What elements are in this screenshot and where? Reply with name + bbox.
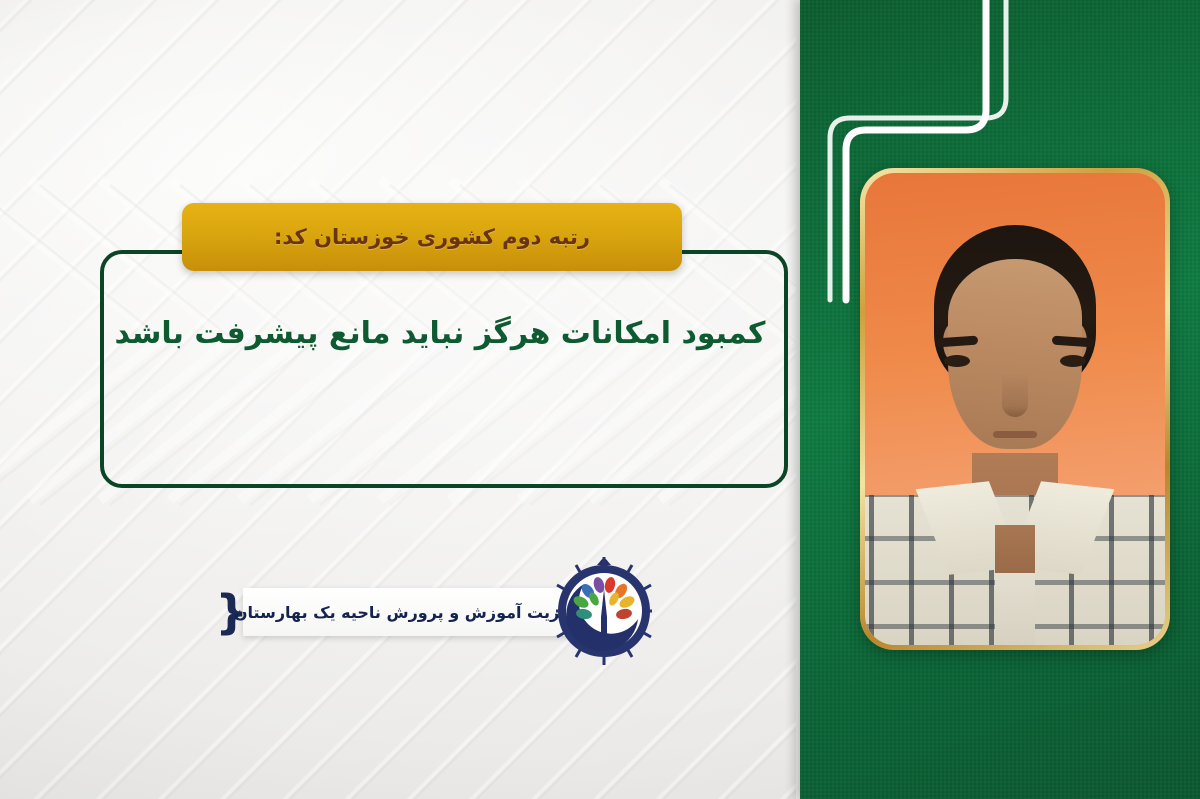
portrait-face (948, 259, 1082, 449)
portrait-shirt-placket (995, 525, 1035, 645)
slide-canvas: رتبه دوم کشوری خوزستان کد: کمبود امکانات… (0, 0, 1200, 799)
portrait-nose (1002, 373, 1028, 417)
portrait-mouth (993, 431, 1037, 438)
portrait-eye-right (1060, 355, 1086, 367)
portrait-eye-left (944, 355, 970, 367)
organization-ribbon: مدیریت آموزش و پرورش ناحیه یک بهارستان (243, 588, 576, 636)
student-portrait-photo (865, 173, 1165, 645)
student-portrait-frame (860, 168, 1170, 650)
rank-banner: رتبه دوم کشوری خوزستان کد: (182, 203, 682, 271)
content-frame (100, 250, 788, 488)
ministry-of-education-emblem-icon (556, 551, 652, 669)
headline-text: کمبود امکانات هرگز نباید مانع پیشرفت باش… (100, 316, 780, 351)
rank-banner-label: رتبه دوم کشوری خوزستان کد: (274, 225, 590, 249)
organization-label: مدیریت آموزش و پرورش ناحیه یک بهارستان (234, 603, 585, 622)
